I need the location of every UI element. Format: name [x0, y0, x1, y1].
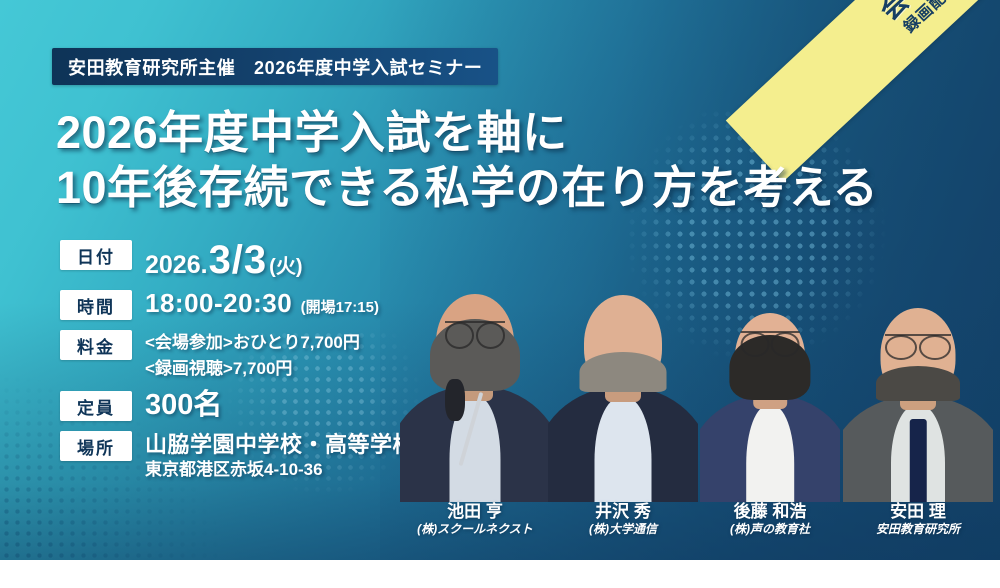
detail-row-venue: 場所 山脇学園中学校・高等学校 東京都港区赤坂4-10-36 — [60, 431, 410, 481]
venue-label-chip: 場所 — [60, 431, 132, 461]
speaker-2-portrait — [548, 252, 698, 502]
date-label: 日付 — [77, 243, 115, 268]
speaker-1-name: 池田 亨 — [400, 502, 550, 522]
speaker-3-shirt — [746, 405, 794, 502]
speaker-1-microphone-icon — [445, 379, 465, 422]
detail-row-date: 日付 2026. 3/3 (火) — [60, 240, 410, 280]
speaker-3-name: 後藤 和浩 — [700, 502, 840, 522]
event-banner-page: 会場開催 録画配信あり 安田教育研究所主催 2026年度中学入試セミナー 202… — [0, 0, 1000, 588]
speaker-2: 井沢 秀 (株)大学通信 — [548, 252, 698, 502]
date-day: 3/3 — [209, 240, 268, 280]
speaker-4: 安田 理 安田教育研究所 — [843, 272, 993, 502]
detail-row-fee: 料金 <会場参加>おひとり7,700円 <録画視聴>7,700円 — [60, 330, 410, 381]
fee-value: <会場参加>おひとり7,700円 <録画視聴>7,700円 — [145, 330, 410, 381]
headline-line-1: 2026年度中学入試を軸に — [56, 106, 936, 161]
venue-address: 東京都港区赤坂4-10-36 — [145, 459, 415, 481]
event-details: 日付 2026. 3/3 (火) 時間 18:00-20:30 — [60, 240, 410, 491]
speaker-2-photo — [548, 252, 698, 502]
speaker-4-photo — [843, 272, 993, 502]
speaker-4-necktie — [910, 419, 927, 502]
organizer-badge-text: 安田教育研究所主催 2026年度中学入試セミナー — [68, 54, 482, 80]
venue-label: 場所 — [77, 434, 115, 459]
venue-name: 山脇学園中学校・高等学校 — [145, 431, 415, 459]
fee-line-2: <録画視聴>7,700円 — [145, 356, 410, 382]
speaker-gallery: 池田 亨 (株)スクールネクスト 井沢 秀 (株) — [400, 250, 1000, 560]
speaker-4-name-block: 安田 理 安田教育研究所 — [843, 502, 993, 536]
speaker-3: 後藤 和浩 (株)声の教育社 — [700, 270, 840, 502]
venue-value: 山脇学園中学校・高等学校 東京都港区赤坂4-10-36 — [145, 431, 415, 481]
page-title: 2026年度中学入試を軸に 10年後存続できる私学の在り方を考える — [56, 106, 936, 216]
date-weekday: (火) — [269, 257, 302, 277]
event-banner: 会場開催 録画配信あり 安田教育研究所主催 2026年度中学入試セミナー 202… — [0, 0, 1000, 560]
fee-label: 料金 — [77, 333, 115, 358]
date-line: 2026. 3/3 (火) — [145, 240, 410, 280]
fee-line-1: <会場参加>おひとり7,700円 — [145, 330, 410, 356]
speaker-3-portrait — [700, 270, 840, 502]
speaker-1-glasses-icon — [445, 321, 505, 346]
capacity-label-chip: 定員 — [60, 391, 132, 421]
detail-row-capacity: 定員 300名 — [60, 391, 410, 421]
speaker-3-name-block: 後藤 和浩 (株)声の教育社 — [700, 502, 840, 536]
date-year: 2026. — [145, 253, 208, 278]
speaker-4-portrait — [843, 272, 993, 502]
speaker-1: 池田 亨 (株)スクールネクスト — [400, 250, 550, 502]
time-note: (開場17:15) — [301, 299, 379, 316]
speaker-2-name-block: 井沢 秀 (株)大学通信 — [548, 502, 698, 536]
speaker-2-hair — [580, 352, 667, 392]
speaker-1-portrait — [400, 250, 550, 502]
speaker-4-org: 安田教育研究所 — [843, 522, 993, 536]
date-value: 2026. 3/3 (火) — [145, 240, 410, 280]
speaker-1-org: (株)スクールネクスト — [400, 522, 550, 536]
time-label-chip: 時間 — [60, 290, 132, 320]
speaker-1-name-block: 池田 亨 (株)スクールネクスト — [400, 502, 550, 536]
capacity-label: 定員 — [77, 394, 115, 419]
speaker-2-org: (株)大学通信 — [548, 522, 698, 536]
organizer-badge: 安田教育研究所主催 2026年度中学入試セミナー — [52, 48, 498, 85]
time-main: 18:00-20:30 — [145, 288, 292, 318]
speaker-3-glasses-icon — [741, 331, 800, 354]
headline-line-2: 10年後存続できる私学の在り方を考える — [56, 161, 936, 216]
page-bottom-margin — [0, 560, 1000, 588]
time-line: 18:00-20:30 (開場17:15) — [145, 290, 410, 316]
speaker-3-photo — [700, 270, 840, 502]
capacity-value: 300名 — [145, 391, 410, 420]
capacity-number: 300名 — [145, 391, 410, 420]
time-value: 18:00-20:30 (開場17:15) — [145, 290, 410, 316]
detail-row-time: 時間 18:00-20:30 (開場17:15) — [60, 290, 410, 320]
speaker-3-org: (株)声の教育社 — [700, 522, 840, 536]
speaker-1-photo — [400, 250, 550, 502]
time-label: 時間 — [77, 293, 115, 318]
speaker-4-hair — [876, 366, 960, 401]
date-label-chip: 日付 — [60, 240, 132, 270]
fee-label-chip: 料金 — [60, 330, 132, 360]
speaker-4-glasses-icon — [885, 334, 951, 357]
speaker-2-shirt — [595, 397, 652, 502]
speaker-2-name: 井沢 秀 — [548, 502, 698, 522]
speaker-4-name: 安田 理 — [843, 502, 993, 522]
